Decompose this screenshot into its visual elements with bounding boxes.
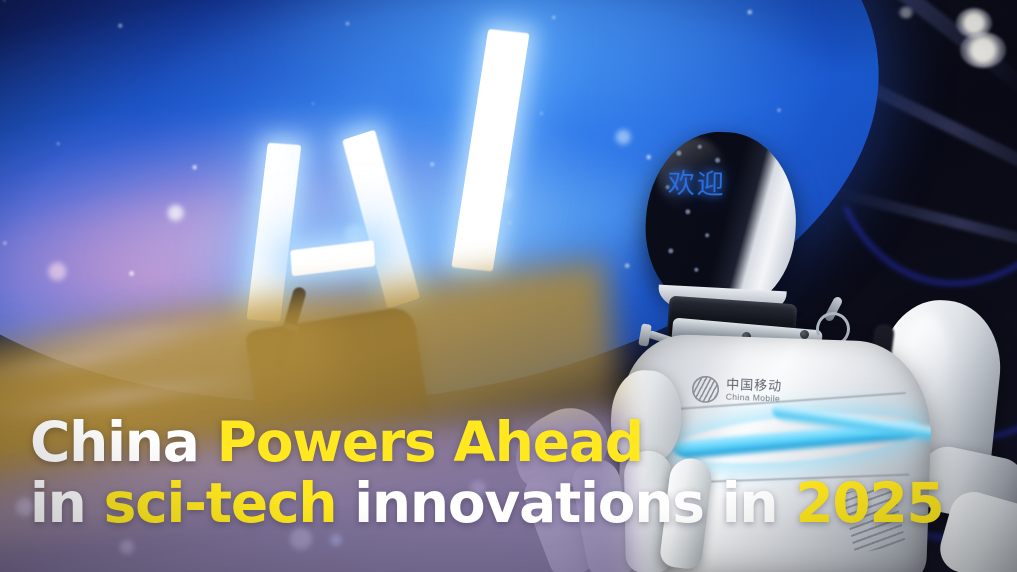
neck-bolt <box>800 330 809 339</box>
bokeh-particle <box>48 261 68 281</box>
headline-line-2: in sci-tech innovations in 2025 <box>30 473 944 534</box>
head-speck <box>668 248 673 253</box>
headline-segment: sci-tech <box>104 471 355 535</box>
headline-segment: 2025 <box>795 471 943 535</box>
robot-head-display-text: 欢迎 <box>667 171 751 199</box>
china-mobile-branding: 中国移动 China Mobile <box>692 375 783 405</box>
headline-segment: China <box>30 410 217 474</box>
head-speck <box>694 267 698 271</box>
spotlight <box>898 6 914 19</box>
bokeh-particle <box>344 224 366 246</box>
headline-segment: innovations in <box>354 471 795 535</box>
headline-segment: Powers Ahead <box>217 410 643 474</box>
head-speck <box>685 209 690 214</box>
bokeh-particle <box>615 129 631 145</box>
bokeh-particle <box>496 187 511 202</box>
bokeh-particle <box>167 204 184 221</box>
headline: China Powers Ahead in sci-tech innovatio… <box>30 412 944 534</box>
head-speck <box>705 233 709 237</box>
scene-image: 欢迎 中国移动 China Mobile <box>0 0 1017 572</box>
spotlight <box>960 32 1006 68</box>
headline-segment: in <box>30 471 104 535</box>
brand-name-en: China Mobile <box>726 392 782 403</box>
china-mobile-text: 中国移动 China Mobile <box>726 379 783 404</box>
china-mobile-logo-icon <box>692 375 720 403</box>
headline-line-1: China Powers Ahead <box>30 412 944 473</box>
